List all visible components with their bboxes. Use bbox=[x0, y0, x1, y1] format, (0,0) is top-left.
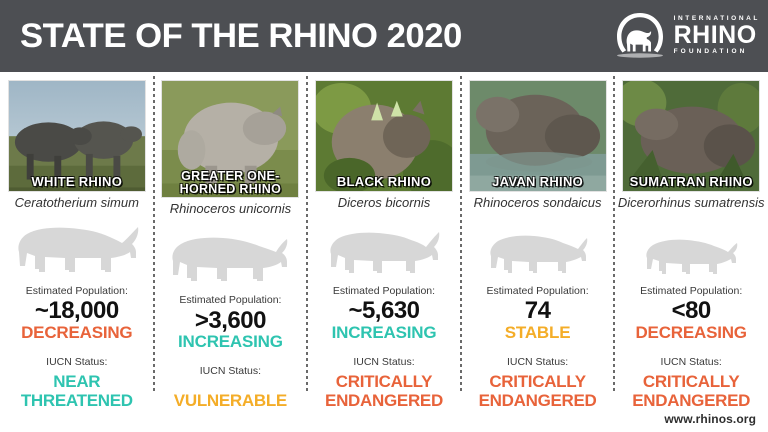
footer-website[interactable]: www.rhinos.org bbox=[664, 412, 756, 426]
scientific-name-javan-rhino: Rhinoceros sondaicus bbox=[474, 196, 602, 210]
species-column-black-rhino: BLACK RHINO Diceros bicornis Estimated P… bbox=[307, 72, 461, 410]
trend-white-rhino: DECREASING bbox=[0, 324, 154, 343]
iucn-label: IUCN Status: bbox=[614, 357, 768, 369]
iucn-block-sumatran-rhino: IUCN Status: CRITICALLY ENDANGERED bbox=[614, 357, 768, 410]
rhino-silhouette-icon bbox=[167, 233, 293, 287]
iucn-label: IUCN Status: bbox=[0, 357, 154, 369]
trend-black-rhino: INCREASING bbox=[307, 324, 461, 343]
population-label: Estimated Population: bbox=[0, 286, 154, 298]
scientific-name-sumatran-rhino: Dicerorhinus sumatrensis bbox=[618, 196, 765, 210]
species-photo-greater-one-horned-rhino: GREATER ONE-HORNED RHINO bbox=[161, 80, 299, 198]
rhino-silhouette-icon bbox=[642, 236, 740, 278]
population-value-white-rhino: ~18,000 bbox=[0, 298, 154, 324]
common-name-white-rhino: WHITE RHINO bbox=[9, 175, 145, 188]
population-value-greater-one-horned-rhino: >3,600 bbox=[154, 308, 308, 334]
stats-white-rhino: Estimated Population: ~18,000 DECREASING bbox=[0, 286, 154, 343]
trend-greater-one-horned-rhino: INCREASING bbox=[154, 333, 308, 352]
scientific-name-white-rhino: Ceratotherium simum bbox=[15, 196, 139, 210]
iucn-label: IUCN Status: bbox=[307, 357, 461, 369]
species-photo-white-rhino: WHITE RHINO bbox=[8, 80, 146, 192]
species-photo-sumatran-rhino: SUMATRAN RHINO bbox=[622, 80, 760, 192]
iucn-block-white-rhino: IUCN Status: NEAR THREATENED bbox=[0, 357, 154, 410]
common-name-greater-one-horned-rhino: GREATER ONE-HORNED RHINO bbox=[162, 170, 298, 196]
rhino-silhouette-icon bbox=[11, 222, 143, 278]
stats-greater-one-horned-rhino: Estimated Population: >3,600 INCREASING bbox=[154, 295, 308, 352]
common-name-sumatran-rhino: SUMATRAN RHINO bbox=[623, 175, 759, 188]
scientific-name-black-rhino: Diceros bicornis bbox=[338, 196, 430, 210]
silhouette-javan-rhino bbox=[465, 220, 611, 278]
species-column-white-rhino: WHITE RHINO Ceratotherium simum Estimate… bbox=[0, 72, 154, 410]
iucn-status-white-rhino: NEAR THREATENED bbox=[0, 373, 154, 410]
stats-black-rhino: Estimated Population: ~5,630 INCREASING bbox=[307, 286, 461, 343]
iucn-status-sumatran-rhino: CRITICALLY ENDANGERED bbox=[614, 373, 768, 410]
trend-javan-rhino: STABLE bbox=[461, 324, 615, 343]
iucn-status-javan-rhino: CRITICALLY ENDANGERED bbox=[461, 373, 615, 410]
species-photo-black-rhino: BLACK RHINO bbox=[315, 80, 453, 192]
silhouette-greater-one-horned-rhino bbox=[157, 226, 303, 287]
population-label: Estimated Population: bbox=[154, 295, 308, 307]
species-column-greater-one-horned-rhino: GREATER ONE-HORNED RHINO Rhinoceros unic… bbox=[154, 72, 308, 410]
logo-line-rhino: RHINO bbox=[674, 24, 760, 48]
population-value-black-rhino: ~5,630 bbox=[307, 298, 461, 324]
species-column-sumatran-rhino: SUMATRAN RHINO Dicerorhinus sumatrensis … bbox=[614, 72, 768, 410]
silhouette-sumatran-rhino bbox=[618, 220, 764, 278]
page-title: STATE OF THE RHINO 2020 bbox=[20, 17, 462, 56]
population-label: Estimated Population: bbox=[307, 286, 461, 298]
rhino-silhouette-icon bbox=[325, 228, 443, 278]
state-of-the-rhino-infographic: STATE OF THE RHINO 2020 INTERNATIONAL RH… bbox=[0, 0, 768, 432]
iucn-status-greater-one-horned-rhino: VULNERABLE bbox=[154, 392, 308, 410]
irf-logo: INTERNATIONAL RHINO FOUNDATION bbox=[613, 10, 760, 62]
population-value-sumatran-rhino: <80 bbox=[614, 298, 768, 324]
iucn-block-greater-one-horned-rhino: IUCN Status: VULNERABLE bbox=[154, 366, 308, 410]
silhouette-black-rhino bbox=[311, 220, 457, 278]
iucn-block-black-rhino: IUCN Status: CRITICALLY ENDANGERED bbox=[307, 357, 461, 410]
header-bar: STATE OF THE RHINO 2020 INTERNATIONAL RH… bbox=[0, 0, 768, 72]
iucn-label: IUCN Status: bbox=[461, 357, 615, 369]
common-name-javan-rhino: JAVAN RHINO bbox=[470, 175, 606, 188]
iucn-block-javan-rhino: IUCN Status: CRITICALLY ENDANGERED bbox=[461, 357, 615, 410]
stats-sumatran-rhino: Estimated Population: <80 DECREASING bbox=[614, 286, 768, 343]
population-label: Estimated Population: bbox=[614, 286, 768, 298]
logo-line-foundation: FOUNDATION bbox=[674, 49, 760, 56]
rhino-arch-logo-icon bbox=[613, 10, 667, 62]
scientific-name-greater-one-horned-rhino: Rhinoceros unicornis bbox=[170, 202, 291, 216]
population-value-javan-rhino: 74 bbox=[461, 298, 615, 324]
species-column-javan-rhino: JAVAN RHINO Rhinoceros sondaicus Estimat… bbox=[461, 72, 615, 410]
trend-sumatran-rhino: DECREASING bbox=[614, 324, 768, 343]
species-photo-javan-rhino: JAVAN RHINO bbox=[469, 80, 607, 192]
iucn-status-black-rhino: CRITICALLY ENDANGERED bbox=[307, 373, 461, 410]
iucn-label: IUCN Status: bbox=[154, 366, 308, 378]
species-columns: WHITE RHINO Ceratotherium simum Estimate… bbox=[0, 72, 768, 410]
population-label: Estimated Population: bbox=[461, 286, 615, 298]
stats-javan-rhino: Estimated Population: 74 STABLE bbox=[461, 286, 615, 343]
silhouette-white-rhino bbox=[4, 220, 150, 278]
rhino-silhouette-icon bbox=[486, 232, 590, 278]
common-name-black-rhino: BLACK RHINO bbox=[316, 175, 452, 188]
